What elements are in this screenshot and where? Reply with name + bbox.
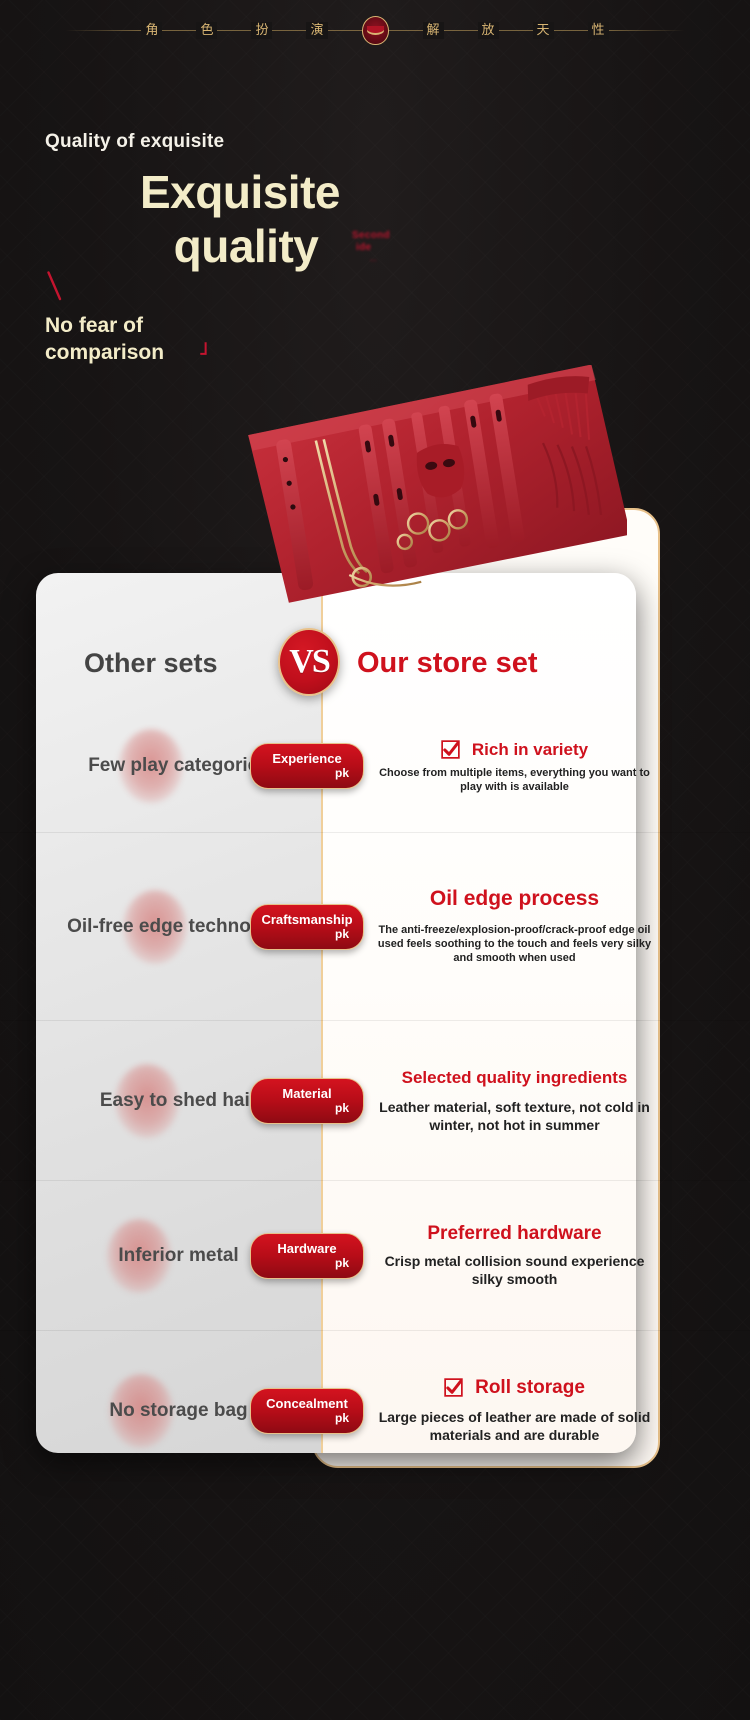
badge-line-1: Craftsmanship [261, 912, 353, 927]
row-right-title: Oil edge process [373, 888, 656, 909]
ornament-char: 放 [478, 22, 499, 39]
top-ornament-bar: 角 色 扮 演 解 放 天 性 [0, 0, 750, 60]
check-box-icon [444, 1378, 463, 1397]
row-right-desc: Leather material, soft texture, not cold… [373, 1098, 656, 1134]
row-right-desc: Large pieces of leather are made of soli… [373, 1408, 656, 1444]
ghost-line-3: ... [352, 254, 390, 266]
hero-subtitle-bracket: 」 [200, 338, 218, 356]
ghost-line-1: Second [352, 230, 390, 242]
row-right-title: Preferred hardware [373, 1223, 656, 1244]
row-badge-craftsmanship[interactable]: Craftsmanship pk [250, 904, 364, 950]
row-badge-concealment[interactable]: Concealment pk [250, 1388, 364, 1434]
ornament-char: 扮 [251, 22, 272, 39]
left-header-label: Other sets [84, 632, 304, 694]
ornament-char: 性 [588, 22, 609, 39]
table-row: Few play categories Experience pk Rich i… [0, 700, 750, 832]
badge-line-2: pk [261, 1411, 353, 1425]
row-left-label: Few play categories [88, 754, 269, 778]
badge-line-1: Hardware [261, 1241, 353, 1256]
row-right-cell: Roll storage Large pieces of leather are… [357, 1363, 672, 1458]
hero-ghost-text: Second ide ... [352, 230, 390, 266]
ornament-char: 角 [141, 22, 162, 39]
slash-decoration-icon [47, 271, 63, 301]
row-left-label: No storage bag [109, 1399, 247, 1423]
row-right-cell: Selected quality ingredients Leather mat… [357, 1053, 672, 1148]
vs-label: VS [289, 643, 328, 681]
row-right-cell: Oil edge process The anti-freeze/explosi… [357, 874, 672, 979]
comparison-header: Other sets Our store set [0, 632, 750, 694]
row-right-title-row: Roll storage [373, 1377, 656, 1398]
hero-title: Exquisite quality [100, 165, 380, 273]
hero-title-line2: quality [100, 219, 380, 273]
row-right-desc: The anti-freeze/explosion-proof/crack-pr… [373, 923, 656, 965]
check-box-icon [441, 740, 460, 759]
row-right-title: Rich in variety [472, 739, 588, 760]
badge-line-1: Experience [261, 751, 353, 766]
hero-subtitle-line1: No fear of [45, 312, 305, 339]
vs-badge: VS [278, 628, 340, 696]
badge-line-2: pk [261, 1256, 353, 1270]
row-right-cell: Rich in variety Choose from multiple ite… [357, 725, 672, 808]
row-badge-hardware[interactable]: Hardware pk [250, 1233, 364, 1279]
row-right-desc: Crisp metal collision sound experience s… [373, 1252, 656, 1288]
row-right-title: Roll storage [475, 1377, 585, 1398]
ornament-char: 演 [306, 22, 327, 39]
row-right-desc: Choose from multiple items, everything y… [373, 766, 656, 794]
hero-eyebrow: Quality of exquisite [45, 131, 224, 153]
row-badge-material[interactable]: Material pk [250, 1078, 364, 1124]
ornament-char: 色 [196, 22, 217, 39]
right-header-label: Our store set [357, 632, 647, 694]
row-right-title-row: Rich in variety [373, 739, 656, 760]
lips-medal-icon [362, 16, 389, 45]
row-left-label: Inferior metal [118, 1244, 238, 1268]
row-left-label: Easy to shed hair [100, 1089, 257, 1113]
table-row: Inferior metal Hardware pk Preferred har… [0, 1180, 750, 1330]
table-row: No storage bag Concealment pk Roll stora… [0, 1330, 750, 1490]
hero-subtitle: No fear of comparison [45, 312, 305, 366]
row-right-title: Selected quality ingredients [373, 1067, 656, 1088]
ornament-char: 天 [533, 22, 554, 39]
row-badge-experience[interactable]: Experience pk [250, 743, 364, 789]
badge-line-2: pk [261, 766, 353, 780]
badge-line-2: pk [261, 1101, 353, 1115]
table-row: Easy to shed hair Material pk Selected q… [0, 1020, 750, 1180]
hero-subtitle-line2: comparison [45, 339, 305, 366]
row-right-cell: Preferred hardware Crisp metal collision… [357, 1209, 672, 1302]
badge-line-2: pk [261, 927, 353, 941]
ornament-char: 解 [423, 22, 444, 39]
promo-page: 角 色 扮 演 解 放 天 性 Quality of exquisite Exq… [0, 0, 750, 1720]
comparison-rows: Few play categories Experience pk Rich i… [0, 700, 750, 1490]
ghost-line-2: ide [352, 242, 390, 254]
ornament-characters: 角 色 扮 演 解 放 天 性 [141, 16, 608, 45]
badge-line-1: Material [261, 1086, 353, 1101]
hero-title-line1: Exquisite [100, 165, 380, 219]
badge-line-1: Concealment [261, 1396, 353, 1411]
table-row: Oil-free edge technology Craftsmanship p… [0, 832, 750, 1020]
